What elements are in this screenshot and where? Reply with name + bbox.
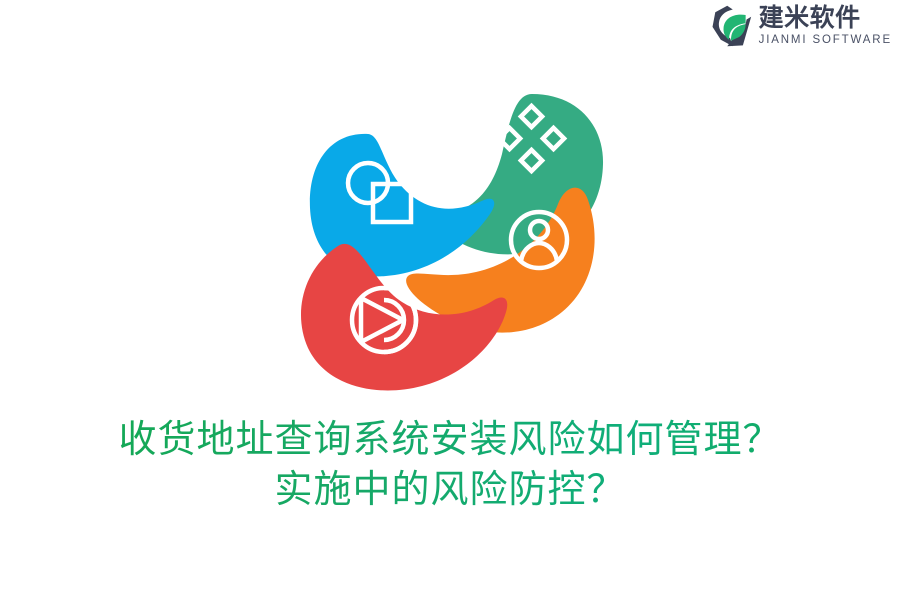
page-title: 收货地址查询系统安装风险如何管理？ 实施中的风险防控？ [0, 414, 900, 514]
four-petal-pinwheel-graphic [290, 90, 610, 400]
brand-name: 建米软件 [759, 5, 892, 30]
page-title-line-1: 收货地址查询系统安装风险如何管理？ [0, 414, 900, 464]
brand-header: 建米软件 JIANMI SOFTWARE [707, 0, 892, 52]
page-title-line-2: 实施中的风险防控？ [0, 464, 900, 514]
brand-text-block: 建米软件 JIANMI SOFTWARE [759, 5, 892, 47]
jianmi-leaf-shield-logo-icon [707, 3, 753, 49]
brand-subtitle: JIANMI SOFTWARE [759, 35, 892, 47]
